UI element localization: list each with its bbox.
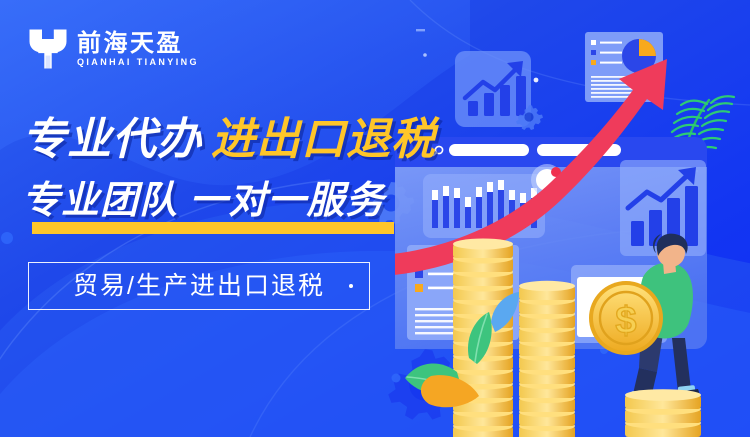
candle <box>443 186 449 228</box>
logo-name-cn: 前海天盈 <box>77 31 199 56</box>
promo-banner: 前海天盈 QIANHAI TIANYING 专业代办 进出口退税 专业团队 一对… <box>0 0 750 437</box>
address-bar-1 <box>449 144 529 156</box>
headline-gold-text: 进出口退税 <box>211 118 436 162</box>
headline-white-text: 专业代办 <box>22 118 202 162</box>
subtitle-box: 贸易/生产进出口退税 <box>28 262 370 310</box>
headline-underline-bar <box>32 222 394 234</box>
coin-stack-short <box>625 389 701 437</box>
trophy-y-mark-icon <box>28 28 68 70</box>
candle <box>465 197 471 228</box>
svg-text:$: $ <box>615 300 636 342</box>
headline-line-1: 专业代办 进出口退税 <box>22 118 436 162</box>
illustration: $ <box>395 0 750 437</box>
subtitle-text: 贸易/生产进出口退税 <box>73 274 325 299</box>
copy-block: 前海天盈 QIANHAI TIANYING 专业代办 进出口退税 专业团队 一对… <box>0 0 430 437</box>
candle <box>432 190 438 228</box>
logo: 前海天盈 QIANHAI TIANYING <box>28 28 199 70</box>
candle <box>476 187 482 228</box>
headline-line-2: 专业团队 一对一服务 <box>22 182 385 220</box>
headline-line-2-wrapper: 专业团队 一对一服务 <box>22 182 385 220</box>
candle <box>487 182 493 228</box>
dollar-coin-icon: $ <box>589 281 663 355</box>
candle <box>454 188 460 228</box>
coin-stack-medium <box>519 281 575 437</box>
logo-name-en: QIANHAI TIANYING <box>77 58 199 67</box>
dot-icon <box>349 284 353 288</box>
